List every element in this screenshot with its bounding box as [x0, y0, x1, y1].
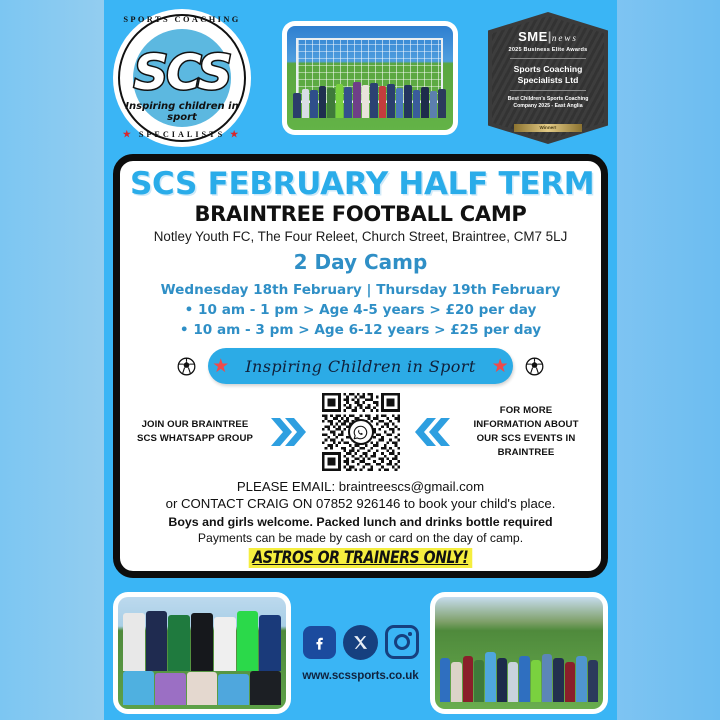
- slogan-banner-row: ★ Inspiring Children in Sport ★: [130, 348, 591, 384]
- star-icon: ★: [492, 357, 509, 376]
- page-subtitle: BRAINTREE FOOTBALL CAMP: [130, 202, 591, 226]
- football-icon: [177, 357, 196, 376]
- footwear-notice: ASTROS OR TRAINERS ONLY!: [249, 548, 472, 568]
- star-icon: ★: [230, 129, 241, 139]
- logo-arc-bottom: ★ SPECIALISTS ★: [113, 129, 251, 140]
- logo-arc-top: SPORTS COACHING: [113, 15, 251, 24]
- award-company: Sports Coaching Specialists Ltd: [500, 64, 596, 85]
- photo-team-row: [440, 652, 598, 702]
- instagram-dot: [408, 632, 412, 636]
- x-twitter-icon[interactable]: [343, 625, 378, 660]
- venue-address: Notley Youth FC, The Four Releet, Church…: [130, 229, 591, 244]
- header-photo: [287, 26, 453, 130]
- chevron-left-icon: [414, 415, 452, 449]
- star-icon: ★: [123, 129, 134, 139]
- main-info-card: SCS FEBRUARY HALF TERM BRAINTREE FOOTBAL…: [113, 154, 608, 578]
- events-info-label: FOR MORE INFORMATION ABOUT OUR SCS EVENT…: [467, 404, 585, 460]
- award-divider: [510, 58, 586, 59]
- facebook-icon[interactable]: [303, 626, 336, 659]
- whatsapp-qr-code[interactable]: [322, 393, 400, 471]
- award-category: Best Children's Sports Coaching Company …: [500, 96, 596, 110]
- footwear-notice-wrap: ASTROS OR TRAINERS ONLY!: [130, 545, 591, 568]
- whatsapp-group-label: JOIN OUR BRAINTREE SCS WHATSAPP GROUP: [136, 418, 254, 446]
- footer-photo-right-frame: [430, 592, 608, 714]
- award-badge-inner: SME|news 2025 Business Elite Awards Spor…: [492, 16, 604, 140]
- footer-photo-left-frame: [113, 592, 291, 714]
- welcome-line: Boys and girls welcome. Packed lunch and…: [130, 515, 591, 529]
- email-line: PLEASE EMAIL: braintreescs@gmail.com: [130, 479, 591, 494]
- photo-front-row: [123, 671, 281, 705]
- star-icon: ★: [212, 357, 229, 376]
- logo-wordmark: SCS: [113, 49, 251, 97]
- scs-logo: SPORTS COACHING SCS Inspiring children i…: [113, 9, 251, 147]
- award-badge: SME|news 2025 Business Elite Awards Spor…: [488, 12, 608, 144]
- website-url[interactable]: www.scssports.co.uk: [296, 669, 426, 682]
- page-title: SCS FEBRUARY HALF TERM: [130, 167, 591, 201]
- slogan-text: Inspiring Children in Sport: [245, 357, 475, 376]
- phone-line: or CONTACT CRAIG ON 07852 926146 to book…: [130, 496, 591, 511]
- poster-footer: www.scssports.co.uk: [104, 586, 617, 720]
- social-block: www.scssports.co.uk: [296, 625, 426, 682]
- football-icon: [525, 357, 544, 376]
- photo-children-row: [293, 70, 446, 118]
- price-line-2: • 10 am - 3 pm > Age 6-12 years > £25 pe…: [130, 322, 591, 338]
- logo-tagline: Inspiring children in sport: [113, 101, 251, 123]
- qr-section: JOIN OUR BRAINTREE SCS WHATSAPP GROUP: [130, 393, 591, 471]
- price-line-1: • 10 am - 1 pm > Age 4-5 years > £20 per…: [130, 302, 591, 318]
- payments-line: Payments can be made by cash or card on …: [130, 531, 591, 545]
- camp-dates: Wednesday 18th February | Thursday 19th …: [130, 282, 591, 298]
- photo-back-row: [123, 611, 281, 671]
- award-divider: [510, 90, 586, 91]
- footer-photo-right: [435, 597, 603, 709]
- instagram-icon[interactable]: [385, 625, 419, 659]
- poster: SPORTS COACHING SCS Inspiring children i…: [104, 0, 617, 720]
- award-winner-ribbon: Winner!: [514, 124, 582, 132]
- social-icons: [296, 625, 426, 660]
- poster-header: SPORTS COACHING SCS Inspiring children i…: [104, 8, 617, 148]
- sme-brand: SME|news: [500, 30, 596, 43]
- camp-duration-headline: 2 Day Camp: [130, 250, 591, 274]
- award-subtitle: 2025 Business Elite Awards: [500, 47, 596, 53]
- logo-arc-bottom-label: SPECIALISTS: [139, 130, 225, 139]
- slogan-banner: ★ Inspiring Children in Sport ★: [208, 348, 513, 384]
- sme-brand-suffix: news: [552, 33, 578, 43]
- footer-photo-left: [118, 597, 286, 709]
- chevron-right-icon: [269, 415, 307, 449]
- whatsapp-icon: [348, 419, 374, 445]
- sme-brand-main: SME: [518, 29, 548, 44]
- header-photo-frame: [282, 21, 458, 135]
- instagram-lens: [394, 634, 410, 650]
